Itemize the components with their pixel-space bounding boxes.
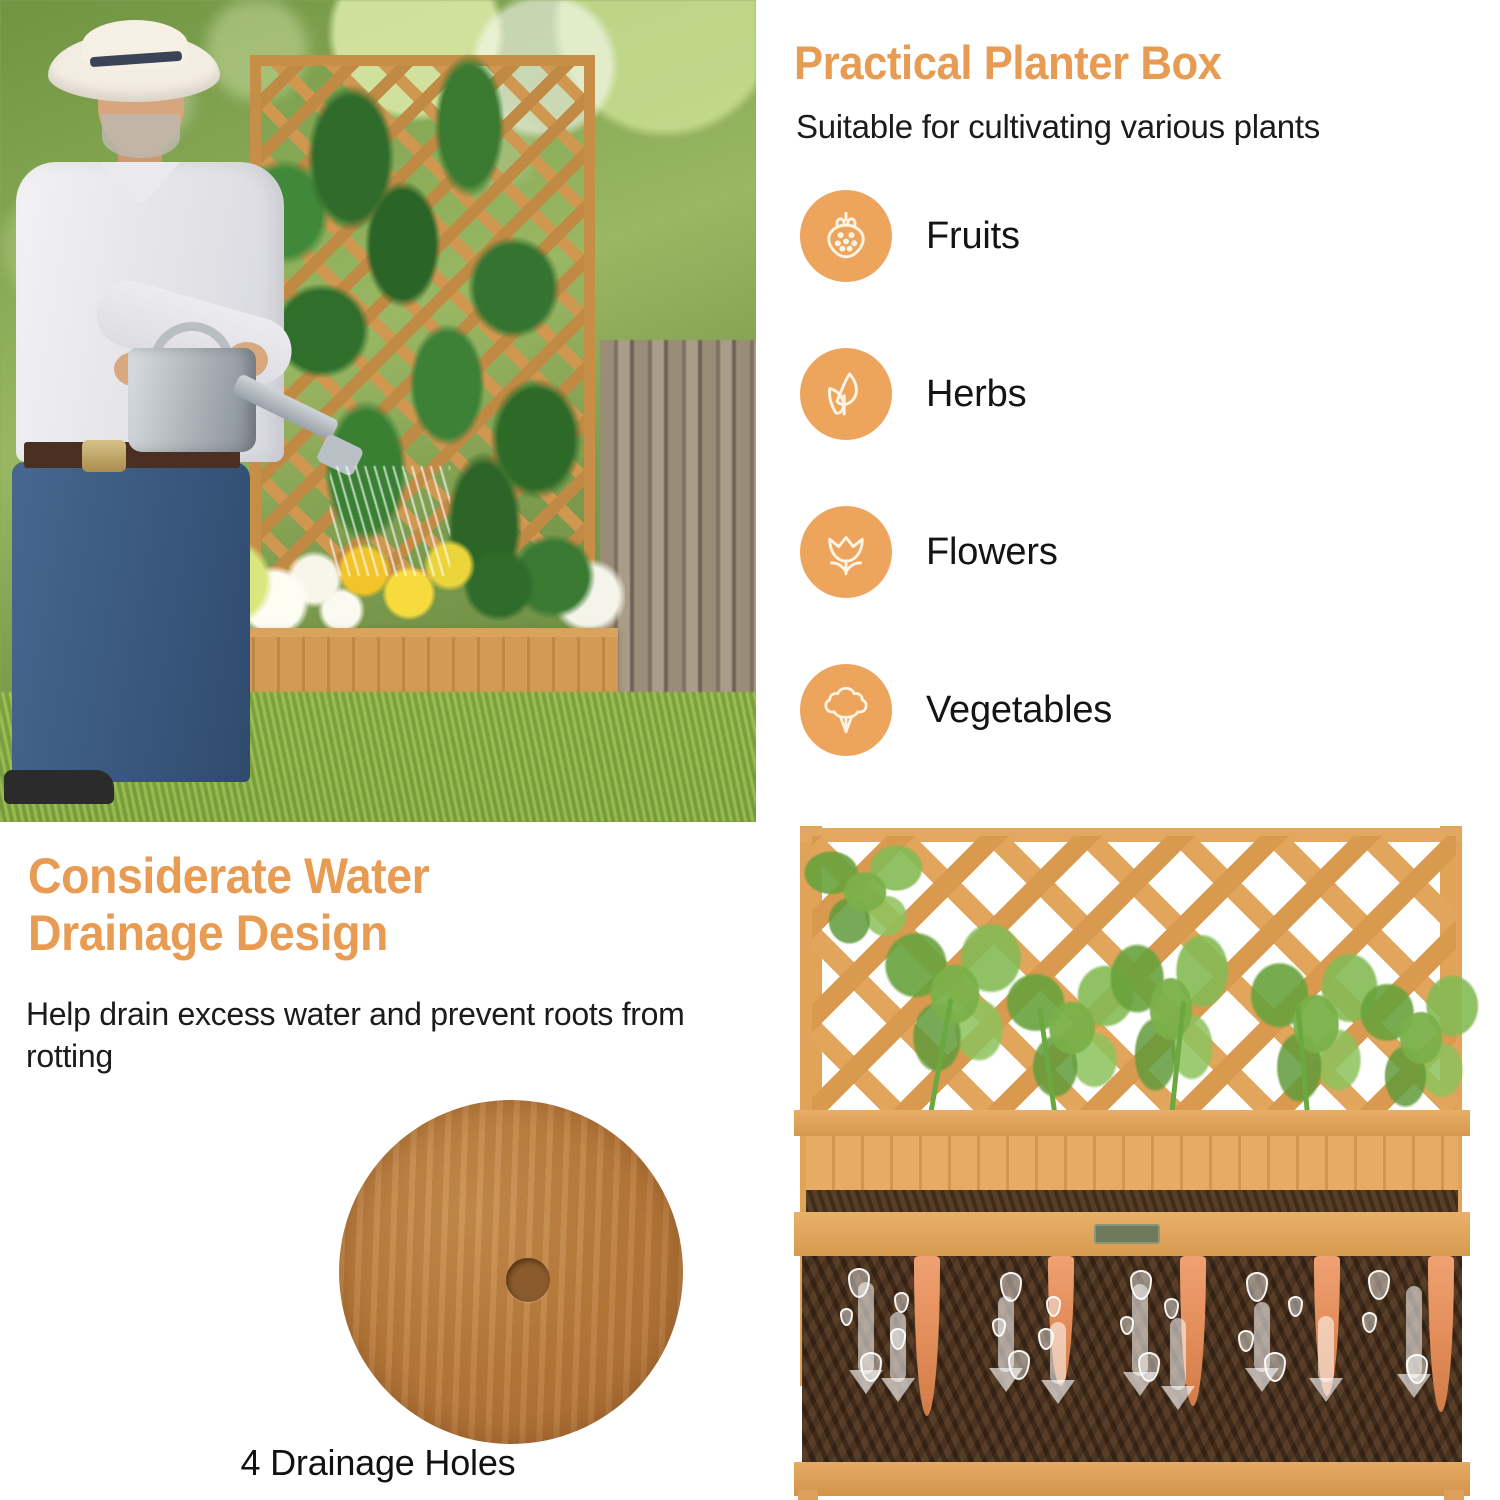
strawberry-icon xyxy=(817,207,875,265)
feature-label-fruits: Fruits xyxy=(926,215,1020,258)
water-drop-11 xyxy=(1130,1270,1152,1300)
leaves-icon xyxy=(817,365,875,423)
features-panel: Practical Planter Box Suitable for culti… xyxy=(756,0,1500,800)
water-drop-12 xyxy=(1164,1298,1179,1319)
features-subheading: Suitable for cultivating various plants xyxy=(796,108,1320,147)
feature-item-fruits: Fruits xyxy=(800,190,1020,282)
drainage-heading-line2: Drainage Design xyxy=(28,905,388,961)
jeans xyxy=(12,462,250,782)
water-drop-2 xyxy=(894,1292,909,1313)
feature-item-flowers: Flowers xyxy=(800,506,1058,598)
planter-leg-right xyxy=(1444,1490,1464,1500)
tulip-icon xyxy=(817,523,875,581)
brand-plate xyxy=(1094,1224,1160,1244)
vegetables-badge xyxy=(800,664,892,756)
water-stream xyxy=(330,466,450,576)
carrot-root-1 xyxy=(914,1256,940,1416)
belt-buckle xyxy=(82,440,126,472)
drainage-arrow-8 xyxy=(1318,1316,1334,1382)
carrot-foliage-6 xyxy=(1356,958,1486,1118)
planter-diagram xyxy=(762,806,1500,1500)
feature-item-herbs: Herbs xyxy=(800,348,1026,440)
carrot-foliage-4 xyxy=(1106,914,1236,1104)
drainage-hole xyxy=(506,1258,550,1302)
planter-bottom-rail xyxy=(794,1462,1470,1496)
broccoli-icon xyxy=(817,681,875,739)
water-drop-16 xyxy=(1288,1296,1303,1317)
infographic-root: Practical Planter Box Suitable for culti… xyxy=(0,0,1500,1500)
drainage-heading: Considerate Water Drainage Design xyxy=(28,848,429,962)
drainage-subheading: Help drain excess water and prevent root… xyxy=(26,994,726,1077)
drainage-heading-line1: Considerate Water xyxy=(28,848,429,904)
herbs-badge xyxy=(800,348,892,440)
lifestyle-photo xyxy=(0,0,756,822)
features-heading: Practical Planter Box xyxy=(794,38,1222,88)
water-drop-19 xyxy=(1368,1270,1390,1300)
flowers-badge xyxy=(800,506,892,598)
carrot-root-5 xyxy=(1428,1256,1454,1412)
soil-cross-section xyxy=(802,1256,1462,1470)
watering-can-body xyxy=(128,348,256,452)
planter-structure xyxy=(776,818,1490,1418)
planter-leg-left xyxy=(798,1490,818,1500)
fruits-badge xyxy=(800,190,892,282)
planter-top-rail xyxy=(794,1110,1470,1136)
water-drop-10 xyxy=(1008,1350,1030,1380)
feature-item-vegetables: Vegetables xyxy=(800,664,1112,756)
shoe xyxy=(4,770,114,804)
feature-label-herbs: Herbs xyxy=(926,373,1026,416)
beard xyxy=(102,114,180,158)
feature-label-flowers: Flowers xyxy=(926,531,1058,574)
water-drop-3 xyxy=(840,1308,853,1326)
drainage-disc-photo xyxy=(339,1100,683,1444)
drainage-disc-caption: 4 Drainage Holes xyxy=(0,1442,756,1484)
water-drop-20 xyxy=(1362,1312,1377,1333)
water-drop-17 xyxy=(1238,1330,1254,1352)
drainage-arrow-6 xyxy=(1170,1318,1186,1390)
water-drop-6 xyxy=(1000,1272,1022,1302)
feature-label-vegetables: Vegetables xyxy=(926,689,1112,732)
water-drop-15 xyxy=(1246,1272,1268,1302)
water-drop-18 xyxy=(1264,1352,1286,1382)
